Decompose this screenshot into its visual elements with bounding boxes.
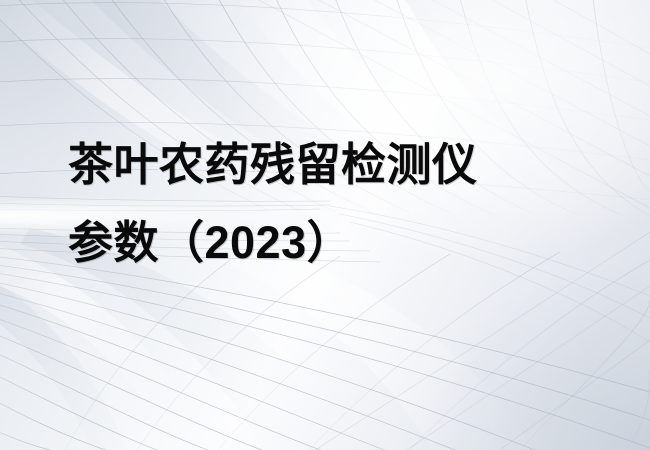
title-banner: 茶叶农药残留检测仪 参数（2023）	[0, 0, 650, 450]
title-line-1: 茶叶农药残留检测仪	[68, 126, 478, 204]
page-title: 茶叶农药残留检测仪 参数（2023）	[68, 126, 478, 282]
title-line-2: 参数（2023）	[68, 204, 478, 282]
